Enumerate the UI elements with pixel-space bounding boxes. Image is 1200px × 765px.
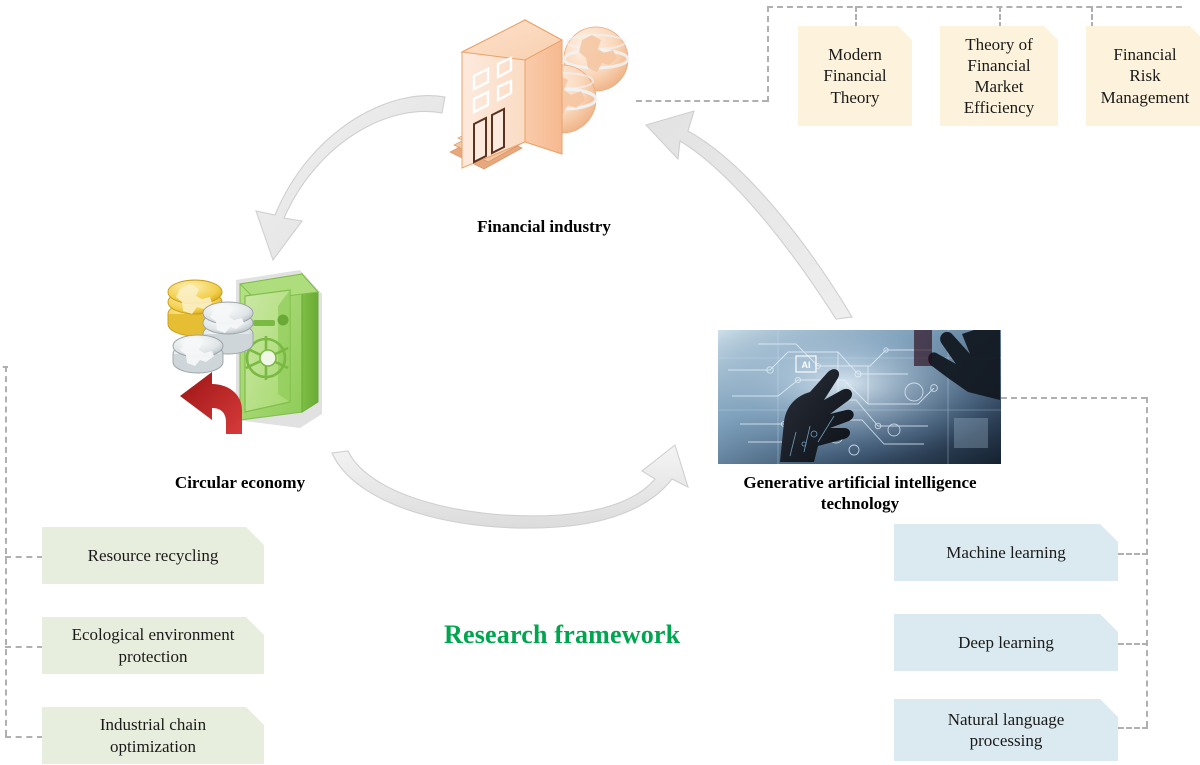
tag-line-1: Modern	[828, 45, 882, 64]
tag-ecological-environment-protection[interactable]: Ecological environment protection	[42, 617, 264, 674]
arrow-ai-to-financial	[640, 95, 860, 325]
connector-financial-stub-3	[1091, 6, 1093, 28]
tag-line-2: Risk	[1129, 66, 1160, 85]
gen-ai-label-line1: Generative artificial intelligence	[743, 473, 976, 492]
connector-ai-stub-1	[1118, 553, 1148, 555]
tag-line-1: Industrial chain	[100, 715, 206, 734]
connector-financial-spine-v	[767, 6, 769, 102]
circular-economy-label: Circular economy	[128, 472, 352, 493]
tag-line-4: Efficiency	[964, 98, 1034, 117]
tag-deep-learning[interactable]: Deep learning	[894, 614, 1118, 671]
connector-ai-stub-2	[1118, 643, 1148, 645]
connector-circular-spine-v	[5, 366, 7, 736]
tag-industrial-chain-optimization[interactable]: Industrial chain optimization	[42, 707, 264, 764]
connector-ai-stub-3	[1118, 727, 1148, 729]
ai-robotic-hand-photo: AI	[718, 330, 1001, 464]
tag-line-3: Market	[974, 77, 1023, 96]
connector-financial-stub-2	[999, 6, 1001, 28]
tag-line-2: protection	[119, 647, 188, 666]
connector-financial-stub-1	[855, 6, 857, 28]
tag-line-3: Management	[1101, 88, 1190, 107]
connector-circular-stub-2	[5, 646, 43, 648]
tag-line-2: processing	[970, 731, 1043, 750]
connector-circular-stub-3	[5, 736, 43, 738]
tag-line-2: Financial	[967, 56, 1030, 75]
tag-line-1: Resource recycling	[88, 546, 219, 565]
tag-modern-financial-theory[interactable]: Modern Financial Theory	[798, 26, 912, 126]
arrow-circular-to-ai	[330, 435, 720, 525]
financial-industry-label: Financial industry	[422, 216, 666, 237]
connector-ai-spine-v	[1146, 397, 1148, 727]
green-vault-coins-arrow-icon	[150, 262, 350, 457]
tag-theory-financial-market-efficiency[interactable]: Theory of Financial Market Efficiency	[940, 26, 1058, 126]
coin-silver-front	[173, 335, 223, 373]
gen-ai-label-line2: technology	[821, 494, 899, 513]
tag-line-2: optimization	[110, 737, 196, 756]
tag-line-2: Financial	[823, 66, 886, 85]
tag-financial-risk-management[interactable]: Financial Risk Management	[1086, 26, 1200, 126]
tag-line-1: Machine learning	[946, 543, 1065, 562]
tag-resource-recycling[interactable]: Resource recycling	[42, 527, 264, 584]
connector-financial-main-h	[636, 100, 768, 102]
tag-line-1: Financial	[1113, 45, 1176, 64]
tag-line-1: Natural language	[948, 710, 1065, 729]
connector-financial-top-h	[767, 6, 1182, 8]
research-framework-diagram: Financial industry	[0, 0, 1200, 765]
tag-natural-language-processing[interactable]: Natural language processing	[894, 699, 1118, 761]
tag-line-1: Theory of	[965, 35, 1033, 54]
tag-line-1: Ecological environment	[72, 625, 235, 644]
page-title: Research framework	[444, 620, 680, 650]
tag-line-1: Deep learning	[958, 633, 1054, 652]
connector-ai-main-h	[1001, 397, 1147, 399]
connector-circular-stub-1	[5, 556, 43, 558]
bank-building-globes-icon	[432, 4, 642, 194]
tag-line-3: Theory	[830, 88, 879, 107]
red-recycle-arrow	[180, 372, 242, 434]
gen-ai-label: Generative artificial intelligence techn…	[700, 472, 1020, 515]
tag-machine-learning[interactable]: Machine learning	[894, 524, 1118, 581]
svg-text:AI: AI	[802, 360, 811, 370]
